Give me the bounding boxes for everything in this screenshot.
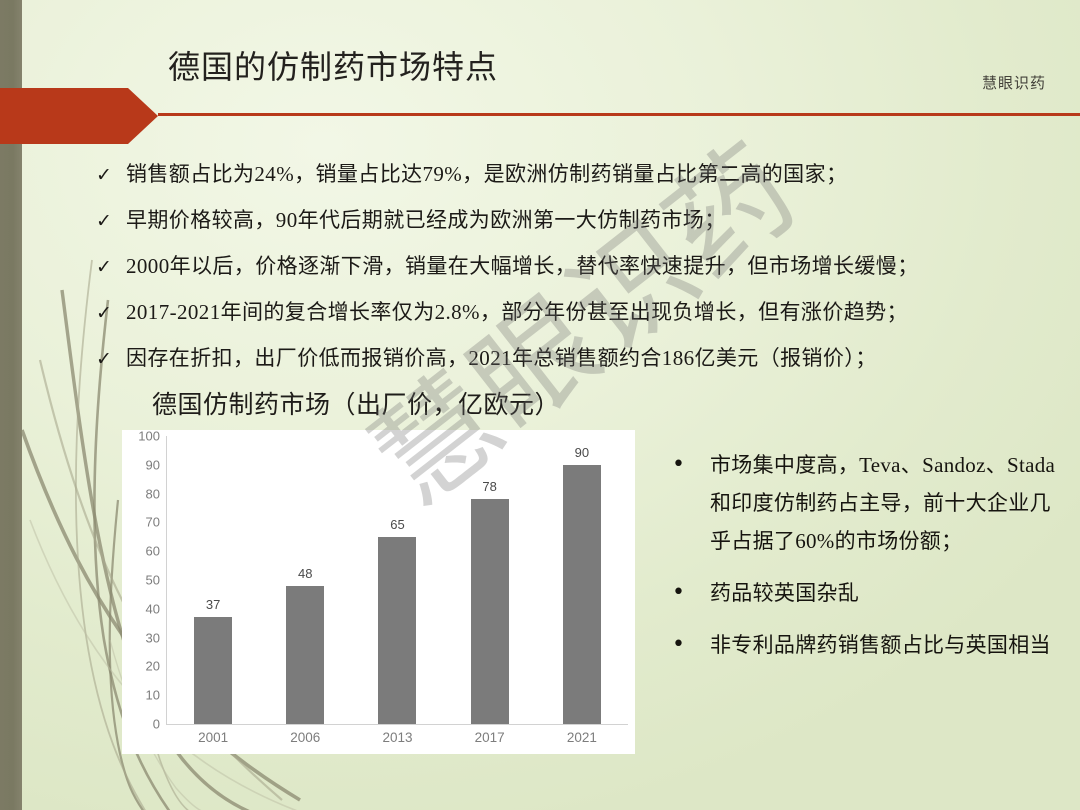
checkmark-icon: ✓ [96,256,126,278]
y-axis-tick-label: 40 [126,601,160,616]
side-notes-list: • 市场集中度高，Teva、Sandoz、Stada和印度仿制药占主导，前十大企… [666,446,1070,678]
y-axis-tick-label: 50 [126,573,160,588]
bar-column: 48 [259,436,351,724]
x-axis-tick-label: 2001 [167,730,259,745]
bar [286,586,324,724]
list-item-text: 2000年以后，价格逐渐下滑，销量在大幅增长，替代率快速提升，但市场增长缓慢； [126,250,919,280]
list-item: • 药品较英国杂乱 [666,574,1070,612]
bar-value-label: 65 [390,517,404,532]
y-axis-tick-label: 60 [126,544,160,559]
chart-title: 德国仿制药市场（出厂价，亿欧元） [152,385,560,421]
chart-panel: 1009080706050403020100 3748657890 200120… [122,430,635,754]
red-chevron-banner [0,88,160,144]
list-item: ✓ 2000年以后，价格逐渐下滑，销量在大幅增长，替代率快速提升，但市场增长缓慢… [96,250,1071,280]
bar [378,537,416,724]
bar-column: 78 [444,436,536,724]
x-axis-tick-label: 2006 [259,730,351,745]
bar-column: 37 [167,436,259,724]
checkmark-icon: ✓ [96,164,126,186]
list-item-text: 因存在折扣，出厂价低而报销价高，2021年总销售额约合186亿美元（报销价）； [126,342,877,372]
x-axis-line [166,724,628,725]
list-item: ✓ 2017-2021年间的复合增长率仅为2.8%，部分年份甚至出现负增长，但有… [96,296,1071,326]
list-item: ✓ 销售额占比为24%，销量占比达79%，是欧洲仿制药销量占比第二高的国家； [96,158,1071,188]
x-axis-tick-label: 2013 [351,730,443,745]
y-axis-tick-label: 70 [126,515,160,530]
bar-value-label: 37 [206,597,220,612]
y-axis-tick-label: 0 [126,717,160,732]
slide-canvas: 德国的仿制药市场特点 慧眼识药 ✓ 销售额占比为24%，销量占比达79%，是欧洲… [0,0,1080,810]
list-item-text: 非专利品牌药销售额占比与英国相当 [710,626,1051,664]
checkmark-icon: ✓ [96,210,126,232]
list-item: • 市场集中度高，Teva、Sandoz、Stada和印度仿制药占主导，前十大企… [666,446,1070,560]
bar [471,499,509,724]
y-axis-tick-label: 100 [126,429,160,444]
bar-value-label: 48 [298,566,312,581]
list-item: • 非专利品牌药销售额占比与英国相当 [666,626,1070,664]
chart-plot-area: 1009080706050403020100 3748657890 200120… [122,430,635,754]
bar-series: 3748657890 [167,436,628,724]
bar-value-label: 90 [575,445,589,460]
key-points-list: ✓ 销售额占比为24%，销量占比达79%，是欧洲仿制药销量占比第二高的国家； ✓… [96,158,1071,388]
y-axis-tick-label: 20 [126,659,160,674]
checkmark-icon: ✓ [96,348,126,370]
bar-column: 90 [536,436,628,724]
list-item: ✓ 因存在折扣，出厂价低而报销价高，2021年总销售额约合186亿美元（报销价）… [96,342,1071,372]
y-axis-tick-label: 90 [126,457,160,472]
y-axis-tick-label: 10 [126,688,160,703]
y-axis-tick-label: 30 [126,630,160,645]
bar [563,465,601,724]
bullet-dot-icon: • [666,446,710,484]
list-item-text: 销售额占比为24%，销量占比达79%，是欧洲仿制药销量占比第二高的国家； [126,158,847,188]
bar-column: 65 [351,436,443,724]
left-decor-band [0,0,22,810]
list-item-text: 2017-2021年间的复合增长率仅为2.8%，部分年份甚至出现负增长，但有涨价… [126,296,908,326]
x-axis-tick-label: 2021 [536,730,628,745]
x-axis: 20012006201320172021 [167,730,628,745]
bullet-dot-icon: • [666,626,710,664]
list-item-text: 市场集中度高，Teva、Sandoz、Stada和印度仿制药占主导，前十大企业几… [710,446,1070,560]
brand-watermark-label: 慧眼识药 [982,72,1046,93]
bar-value-label: 78 [482,479,496,494]
y-axis-tick-label: 80 [126,486,160,501]
x-axis-tick-label: 2017 [444,730,536,745]
y-axis: 1009080706050403020100 [126,436,160,724]
list-item: ✓ 早期价格较高，90年代后期就已经成为欧洲第一大仿制药市场； [96,204,1071,234]
page-title: 德国的仿制药市场特点 [168,42,498,88]
bar [194,617,232,724]
bullet-dot-icon: • [666,574,710,612]
list-item-text: 早期价格较高，90年代后期就已经成为欧洲第一大仿制药市场； [126,204,726,234]
checkmark-icon: ✓ [96,302,126,324]
title-underline [158,113,1080,116]
list-item-text: 药品较英国杂乱 [710,574,859,612]
